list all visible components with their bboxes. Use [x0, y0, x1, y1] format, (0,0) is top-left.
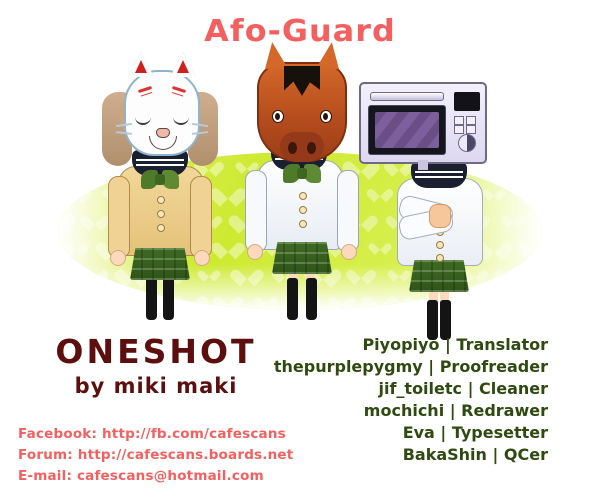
mask-ear-inner-right [177, 60, 189, 73]
clasped-hands [429, 204, 451, 228]
horse-nostril-right [307, 142, 316, 154]
cardigan-button [299, 206, 307, 214]
character-fox-mask-girl [104, 58, 216, 308]
horse-ear-left [261, 41, 286, 70]
credit-line: Piyopiyo | Translator [248, 334, 548, 356]
ribbon-bow [141, 170, 179, 190]
mask-ear-inner-left [135, 60, 147, 73]
microwave-control-panel [454, 92, 480, 154]
collar-stripe [415, 171, 463, 173]
hand-right [341, 244, 357, 260]
mask-eye-right [173, 114, 189, 125]
contact-line[interactable]: E-mail: cafescans@hotmail.com [18, 466, 318, 487]
credit-line: mochichi | Redrawer [248, 400, 548, 422]
hand-left [247, 244, 263, 260]
cardigan-button [157, 196, 165, 204]
horse-eye-right [320, 110, 332, 123]
bow-knot [297, 168, 307, 179]
cardigan-button [299, 192, 307, 200]
microwave-button [466, 125, 476, 134]
microwave-foot [418, 160, 428, 170]
cardigan-button [157, 210, 165, 218]
ribbon-bow [283, 164, 321, 184]
staff-credits-block: Piyopiyo | Translatorthepurplepygmy | Pr… [248, 334, 548, 466]
sleeve-right [337, 170, 359, 252]
mask-mouth [149, 136, 177, 150]
hand-right [194, 250, 210, 266]
sock-right [306, 278, 317, 320]
collar-stripe [136, 164, 184, 166]
mask-brow-right [172, 86, 186, 93]
microwave-button [454, 116, 464, 125]
microwave-door [368, 105, 446, 155]
jacket-button [436, 254, 444, 262]
horse-nostril-left [288, 142, 297, 154]
cardigan-button [299, 220, 307, 228]
microwave-glass [375, 112, 439, 148]
horse-head-icon [257, 62, 347, 162]
sleeve-left [108, 176, 130, 258]
microwave-display [454, 92, 480, 111]
fox-mask-icon [124, 70, 200, 156]
character-horse-head-girl [243, 52, 361, 312]
hand-left [110, 250, 126, 266]
page-title: Afo-Guard [0, 14, 600, 49]
plaid-skirt [272, 242, 332, 274]
microwave-handle [370, 92, 444, 101]
mask-brow-left [138, 86, 152, 93]
release-type-label: ONESHOT [26, 332, 286, 371]
sleeve-left [245, 170, 267, 252]
credits-page: Afo-Guard [0, 0, 600, 500]
collar-stripe [136, 159, 184, 161]
jacket-button [436, 241, 444, 249]
microwave-button [466, 116, 476, 125]
character-microwave-head-girl [383, 78, 495, 310]
collar-stripe [415, 176, 463, 178]
horse-ear-right [317, 41, 342, 70]
heart-shape [218, 236, 239, 255]
sleeve-right [190, 176, 212, 258]
credit-line: Eva | Typesetter [248, 422, 548, 444]
horse-eye-left [272, 110, 284, 123]
sock-left [287, 278, 298, 320]
author-byline: by miki maki [26, 374, 286, 398]
credit-line: BakaShin | QCer [248, 444, 548, 466]
microwave-button [454, 125, 464, 134]
heart-shape [216, 181, 239, 201]
microwave-icon [359, 82, 487, 164]
microwave-dial [458, 134, 476, 152]
plaid-skirt [130, 248, 190, 280]
cardigan-button [157, 224, 165, 232]
horse-muzzle [280, 132, 324, 162]
bow-knot [155, 174, 165, 185]
plaid-skirt [409, 260, 469, 292]
credit-line: jif_toiletc | Cleaner [248, 378, 548, 400]
mask-eye-left [135, 114, 151, 125]
credit-line: thepurplepygmy | Proofreader [248, 356, 548, 378]
horse-mane [284, 66, 320, 100]
